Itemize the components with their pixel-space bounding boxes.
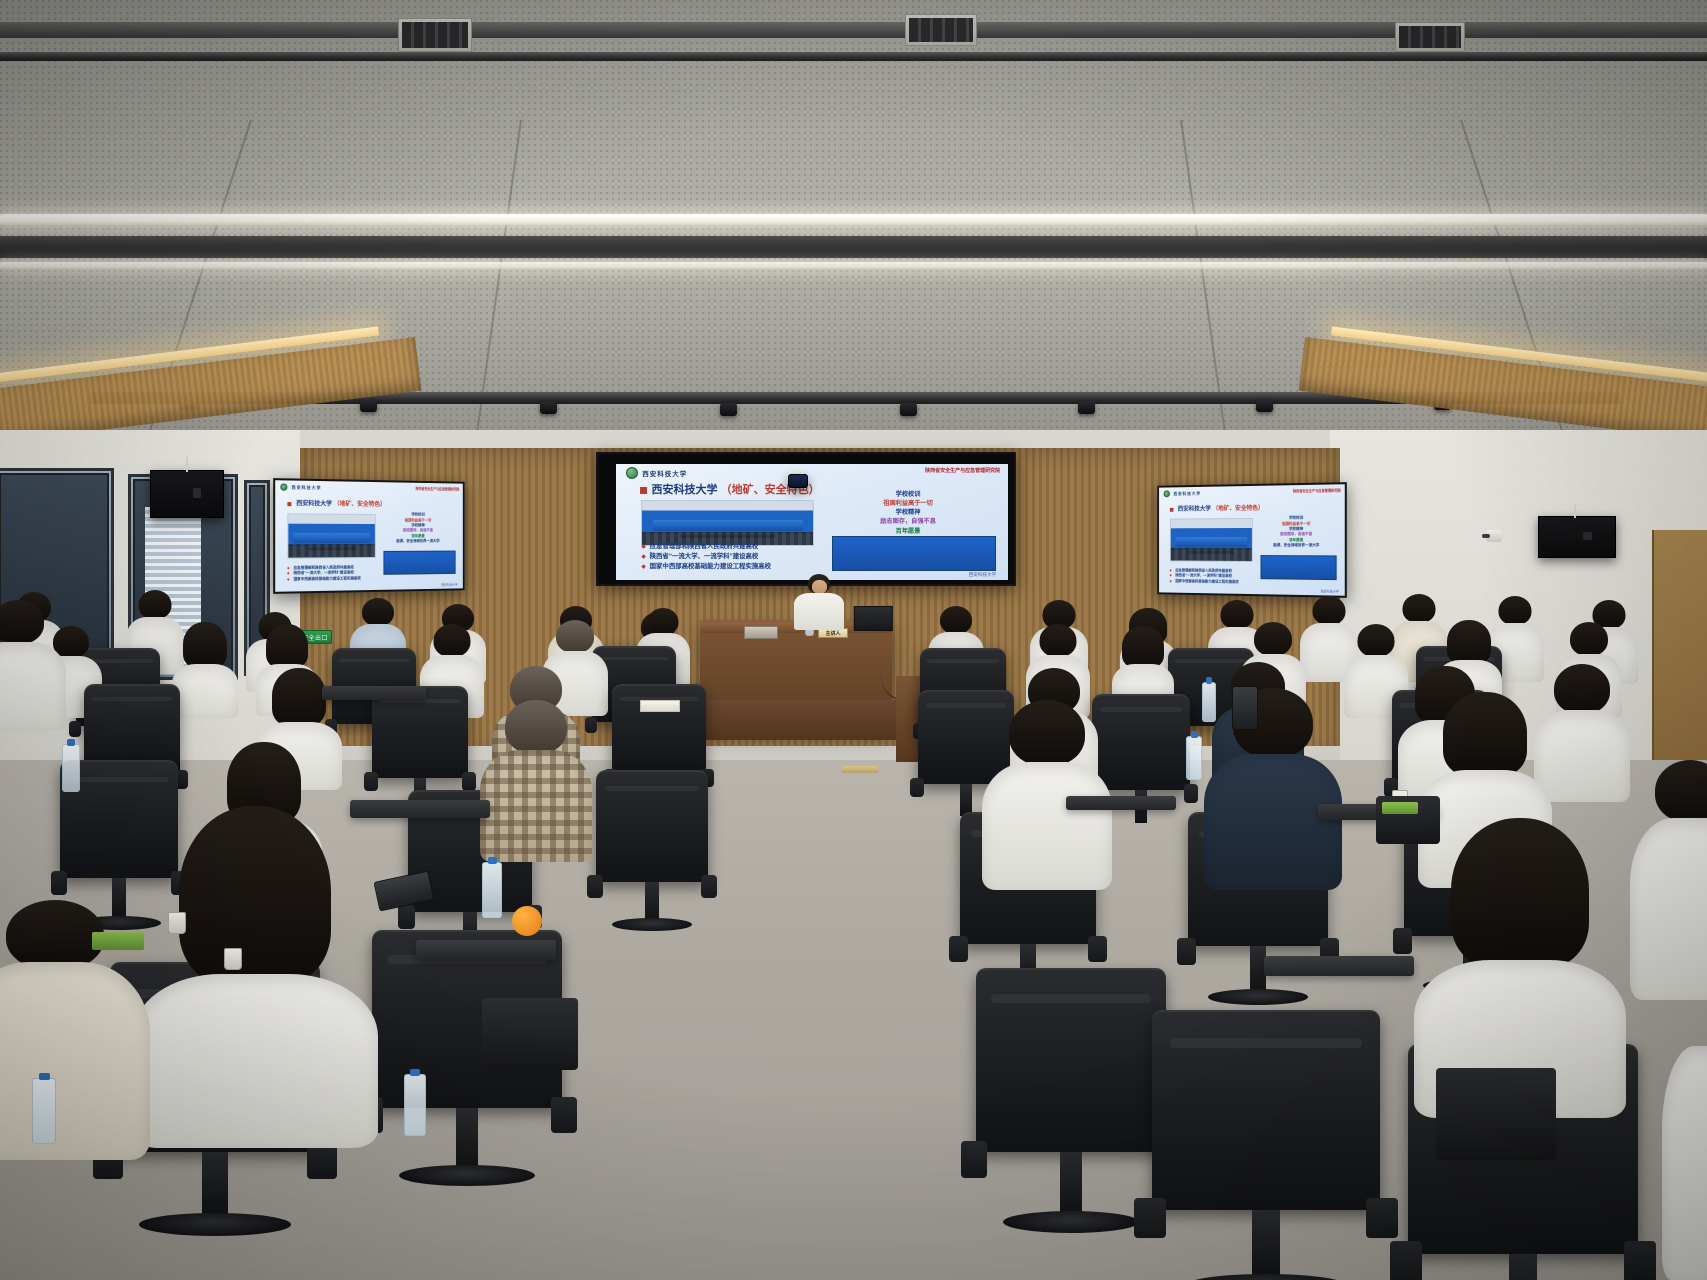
slide-photo — [641, 500, 813, 546]
attendee — [1662, 1046, 1707, 1280]
speaker-mount-left — [186, 456, 188, 472]
main-led-wall[interactable]: 西安科技大学 陕西省安全生产与应急管理研究院 西安科技大学 （地矿、安全特色） … — [596, 452, 1016, 586]
spotlight — [900, 403, 917, 416]
wall-speaker-left — [150, 470, 224, 518]
slide-logo-text: 西安科技大学 — [1174, 491, 1201, 497]
air-vent — [905, 14, 977, 46]
air-vent — [1395, 22, 1465, 52]
desk-tablet — [1066, 796, 1176, 810]
water-bottle — [1202, 682, 1216, 722]
bag — [482, 998, 578, 1070]
slide-bullets: 应急管理部和陕西省人民政府共建高校 陕西省“一流大学、一流学科”建设高校 国家中… — [641, 542, 771, 572]
attendee — [1204, 688, 1342, 890]
slide-content-left: 西安科技大学 陕西省安全生产与应急管理研究院 西安科技大学 （地矿、安全特色） … — [275, 480, 463, 592]
green-notepad — [92, 932, 144, 950]
right-side-monitor[interactable]: 西安科技大学 陕西省安全生产与应急管理研究院 西安科技大学 （地矿、安全特色） … — [1157, 482, 1347, 598]
bag — [1436, 1068, 1556, 1160]
attendee — [0, 600, 66, 730]
conference-hall-photo: 西安科技大学 陕西省安全生产与应急管理研究院 西安科技大学 （地矿、安全特色） … — [0, 0, 1707, 1280]
wall-speaker-right — [1538, 516, 1616, 558]
water-bottle — [404, 1074, 426, 1136]
slide-banner: 陕西省安全生产与应急管理研究院 — [416, 486, 460, 492]
water-bottle — [1186, 736, 1202, 780]
slide-logo-text: 西安科技大学 — [642, 468, 687, 478]
spotlight — [360, 399, 377, 412]
chair[interactable] — [1152, 1010, 1380, 1210]
attendee — [132, 806, 378, 1148]
floor-marker — [842, 766, 878, 773]
tissue-box — [744, 626, 778, 639]
water-bottle — [32, 1078, 56, 1144]
slide-image-box — [383, 551, 456, 575]
speaker-mount-right — [1574, 504, 1576, 518]
air-vent — [398, 18, 472, 52]
attendee — [480, 700, 592, 862]
ceiling-light-strip — [0, 262, 1707, 269]
chair[interactable] — [596, 770, 708, 882]
slide-image-box — [1260, 555, 1337, 580]
green-notepad — [1382, 802, 1418, 814]
slide-photo — [287, 514, 376, 558]
spotlight — [1256, 399, 1273, 412]
ceiling-rail — [0, 236, 1707, 258]
desk-tablet — [416, 940, 556, 960]
laptop[interactable] — [854, 606, 893, 631]
slide-bullets: 应急管理部和陕西省人民政府共建高校 陕西省“一流大学、一流学科”建设高校 国家中… — [1170, 568, 1239, 585]
ceiling-rail — [0, 52, 1707, 61]
paper-cup — [168, 912, 186, 934]
slide-footer: 西安科技大学 — [969, 572, 997, 578]
attendee — [172, 622, 238, 718]
slide-footer: 西安科技大学 — [441, 582, 457, 586]
slide-banner: 陕西省安全生产与应急管理研究院 — [925, 467, 1000, 474]
slide-banner: 陕西省安全生产与应急管理研究院 — [1293, 488, 1341, 494]
chair[interactable] — [612, 684, 706, 774]
paper-cup — [224, 948, 242, 970]
water-bottle — [62, 744, 80, 792]
security-camera-right — [1486, 530, 1502, 542]
slide-right-text: 学校校训 祖国利益高于一切 学校精神 励志图存，自强不息 百年愿景 能源、安全领… — [1255, 516, 1339, 549]
slide-footer: 西安科技大学 — [1321, 589, 1339, 593]
spotlight — [540, 401, 557, 414]
slide-content-main: 西安科技大学 陕西省安全生产与应急管理研究院 西安科技大学 （地矿、安全特色） … — [616, 464, 1008, 580]
chair[interactable] — [976, 968, 1166, 1152]
podium-side-panel — [700, 700, 896, 740]
slide-photo — [1170, 518, 1253, 561]
desk-tablet — [350, 800, 490, 818]
slide-content-right: 西安科技大学 陕西省安全生产与应急管理研究院 西安科技大学 （地矿、安全特色） … — [1159, 484, 1345, 596]
desk-tablet — [322, 686, 426, 700]
presenter — [790, 574, 848, 630]
attendee — [1630, 760, 1707, 1000]
attendee — [982, 700, 1112, 890]
slide-bullets: 应急管理部和陕西省人民政府共建高校 陕西省“一流大学、一流学科”建设高校 国家中… — [287, 565, 361, 583]
spotlight — [1078, 401, 1095, 414]
water-bottle — [482, 862, 502, 918]
slide-logo-text: 西安科技大学 — [292, 484, 322, 491]
orange-fruit — [512, 906, 542, 936]
slide-title: 西安科技大学 （地矿、安全特色） — [287, 498, 386, 508]
smartphone[interactable] — [1232, 686, 1258, 730]
papers — [640, 700, 680, 712]
screen-mount-bracket — [788, 474, 808, 488]
left-side-monitor[interactable]: 西安科技大学 陕西省安全生产与应急管理研究院 西安科技大学 （地矿、安全特色） … — [273, 478, 464, 594]
slide-title: 西安科技大学 （地矿、安全特色） — [1170, 503, 1264, 513]
slide-image-box — [832, 536, 997, 571]
ceiling-light-strip — [0, 214, 1707, 225]
spotlight — [720, 403, 737, 416]
desk-tablet — [1264, 956, 1414, 976]
slide-right-text: 学校校训 祖国利益高于一切 学校精神 励志图存，自强不息 百年愿景 能源、安全领… — [378, 512, 458, 544]
ceiling — [0, 0, 1707, 470]
